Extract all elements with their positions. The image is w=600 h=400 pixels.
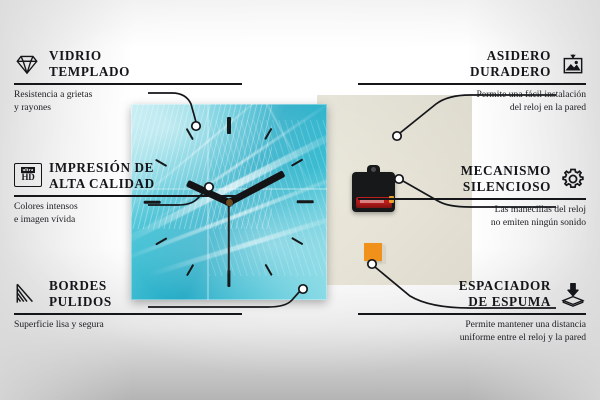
feature-subtitle: Resistencia a grietas y rayones: [14, 89, 242, 115]
feature-subtitle: Colores intensos e imagen vívida: [14, 201, 242, 227]
connector-dot-espaciador: [368, 260, 376, 268]
feature-rule: [358, 198, 586, 200]
feature-impresion-alta-calidad[interactable]: ultra HD IMPRESIÓN DE ALTA CALIDAD Color…: [14, 160, 242, 227]
feature-subtitle: Permite una fácil instalación del reloj …: [358, 89, 586, 115]
ultra-hd-icon: ultra HD: [14, 163, 40, 189]
feature-vidrio-templado[interactable]: VIDRIO TEMPLADO Resistencia a grietas y …: [14, 48, 242, 115]
feature-mecanismo-silencioso[interactable]: MECANISMO SILENCIOSO Las manecillas del …: [358, 163, 586, 230]
connector-dot-asidero: [393, 132, 401, 140]
feature-title: IMPRESIÓN DE ALTA CALIDAD: [49, 160, 155, 191]
feature-rule: [14, 313, 242, 315]
feature-header: ultra HD IMPRESIÓN DE ALTA CALIDAD: [14, 160, 242, 191]
feature-header: ESPACIADOR DE ESPUMA: [358, 278, 586, 309]
feature-title: MECANISMO SILENCIOSO: [461, 163, 551, 194]
feature-subtitle: Las manecillas del reloj no emiten ningú…: [358, 204, 586, 230]
diamond-icon: [14, 51, 40, 77]
feature-title: ASIDERO DURADERO: [470, 48, 551, 79]
feature-title: VIDRIO TEMPLADO: [49, 48, 130, 79]
feature-header: BORDES PULIDOS: [14, 278, 242, 309]
feature-rule: [14, 83, 242, 85]
polished-edges-icon: [14, 281, 40, 307]
feature-bordes-pulidos[interactable]: BORDES PULIDOS Superficie lisa y segura: [14, 278, 242, 332]
feature-rule: [358, 313, 586, 315]
feature-rule: [358, 83, 586, 85]
picture-hanger-icon: [560, 51, 586, 77]
feature-subtitle: Permite mantener una distancia uniforme …: [358, 319, 586, 345]
foam-spacer-icon: [560, 281, 586, 307]
feature-title: ESPACIADOR DE ESPUMA: [459, 278, 551, 309]
feature-header: ASIDERO DURADERO: [358, 48, 586, 79]
feature-subtitle: Superficie lisa y segura: [14, 319, 242, 332]
feature-asidero-duradero[interactable]: ASIDERO DURADERO Permite una fácil insta…: [358, 48, 586, 115]
connector-dot-bordes: [299, 285, 307, 293]
feature-espaciador-de-espuma[interactable]: ESPACIADOR DE ESPUMA Permite mantener un…: [358, 278, 586, 345]
gear-icon: [560, 166, 586, 192]
feature-title: BORDES PULIDOS: [49, 278, 112, 309]
connector-dot-vidrio: [192, 122, 200, 130]
feature-rule: [14, 195, 242, 197]
feature-header: VIDRIO TEMPLADO: [14, 48, 242, 79]
feature-header: MECANISMO SILENCIOSO: [358, 163, 586, 194]
infographic-canvas: VIDRIO TEMPLADO Resistencia a grietas y …: [0, 0, 600, 400]
